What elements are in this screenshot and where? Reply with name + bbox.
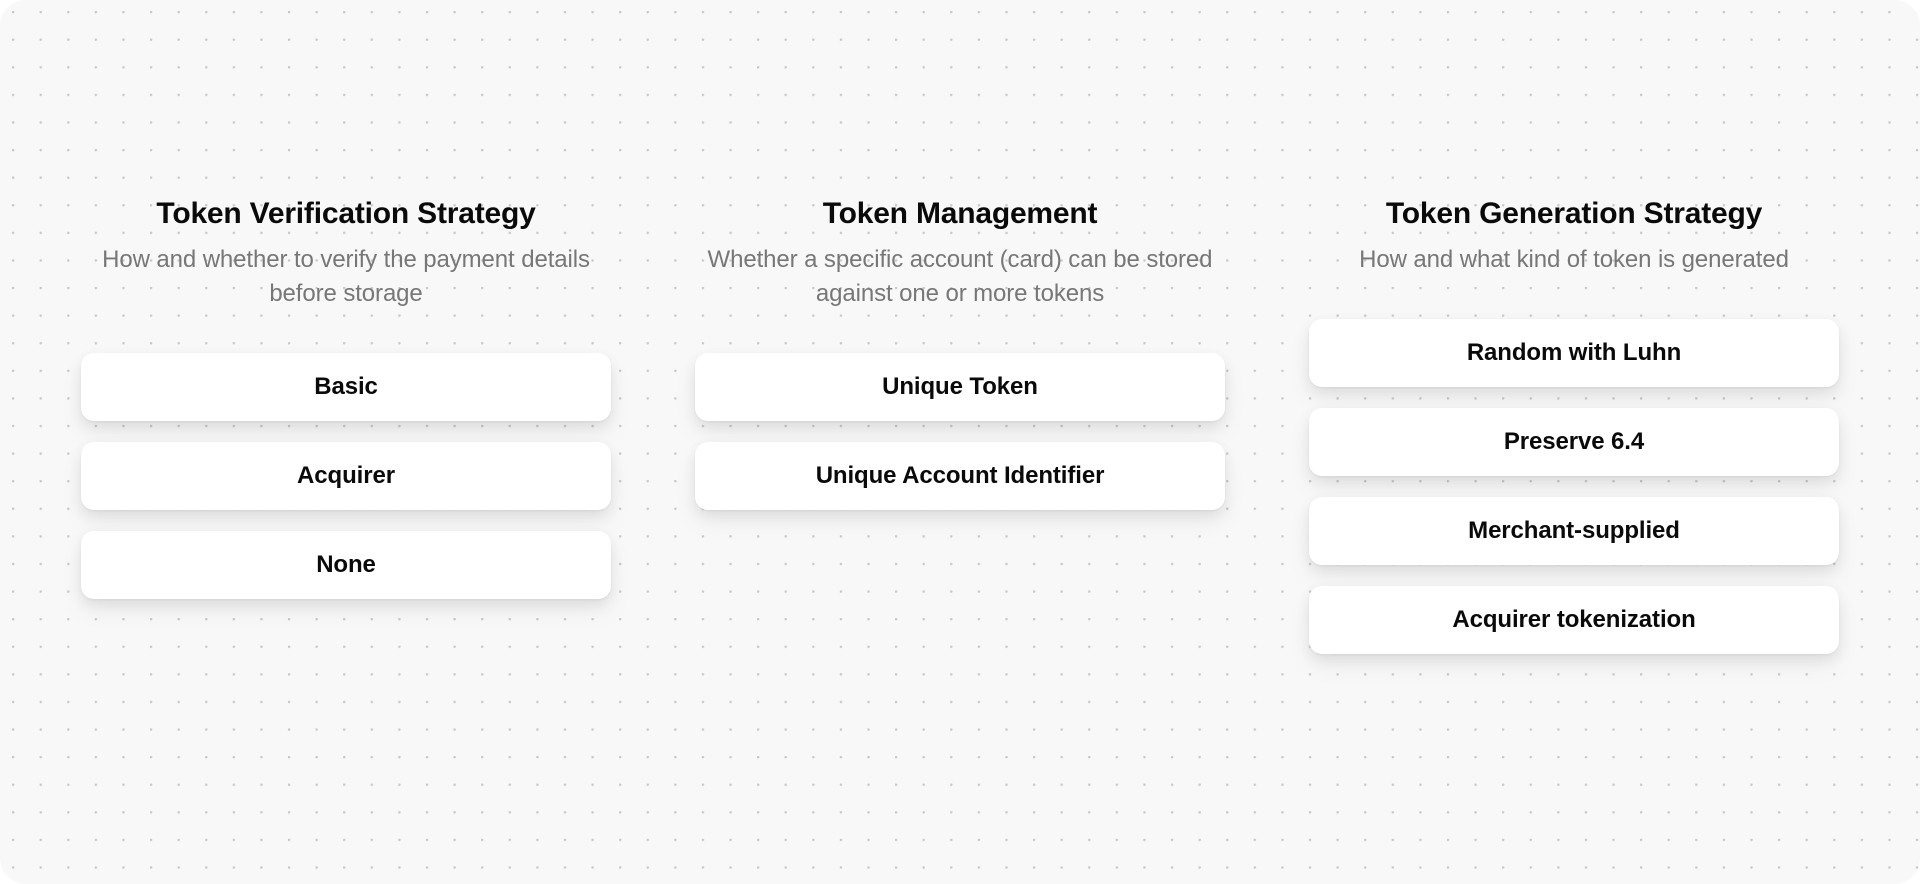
- option-card[interactable]: Preserve 6.4: [1309, 408, 1839, 476]
- option-card[interactable]: Unique Account Identifier: [695, 442, 1225, 510]
- option-list: Random with Luhn Preserve 6.4 Merchant-s…: [1309, 319, 1839, 654]
- column-description: Whether a specific account (card) can be…: [695, 243, 1225, 311]
- column-description: How and whether to verify the payment de…: [81, 243, 611, 311]
- tokenization-options-canvas: Token Verification Strategy How and whet…: [0, 0, 1920, 884]
- column-description: How and what kind of token is generated: [1309, 243, 1839, 277]
- column-token-verification-strategy: Token Verification Strategy How and whet…: [81, 196, 611, 599]
- option-list: Unique Token Unique Account Identifier: [695, 353, 1225, 510]
- option-card[interactable]: Random with Luhn: [1309, 319, 1839, 387]
- options-columns: Token Verification Strategy How and whet…: [0, 0, 1920, 884]
- option-card[interactable]: Basic: [81, 353, 611, 421]
- column-title: Token Verification Strategy: [81, 196, 611, 231]
- option-card[interactable]: Unique Token: [695, 353, 1225, 421]
- option-list: Basic Acquirer None: [81, 353, 611, 599]
- column-title: Token Generation Strategy: [1309, 196, 1839, 231]
- option-card[interactable]: Acquirer: [81, 442, 611, 510]
- column-title: Token Management: [695, 196, 1225, 231]
- column-token-management: Token Management Whether a specific acco…: [695, 196, 1225, 510]
- option-card[interactable]: None: [81, 531, 611, 599]
- option-card[interactable]: Acquirer tokenization: [1309, 586, 1839, 654]
- column-token-generation-strategy: Token Generation Strategy How and what k…: [1309, 196, 1839, 654]
- option-card[interactable]: Merchant-supplied: [1309, 497, 1839, 565]
